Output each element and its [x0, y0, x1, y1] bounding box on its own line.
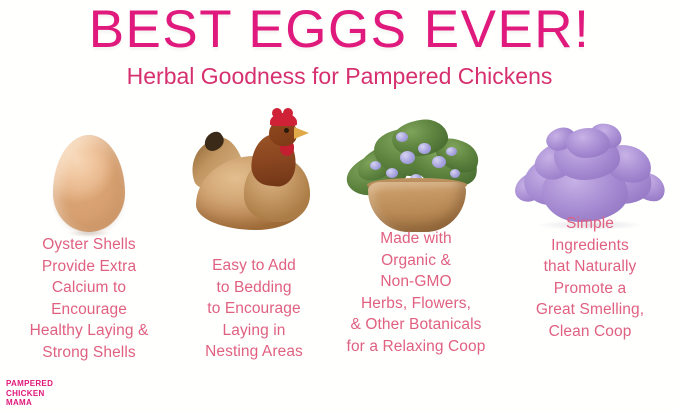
caption-line: Calcium to [5, 277, 173, 299]
caption-line: Simple [506, 213, 674, 235]
egg-shape-icon [53, 135, 125, 232]
blossom [370, 161, 381, 170]
caption-line: Non-GMO [332, 271, 500, 293]
brand-logo[interactable]: PAMPERED CHICKEN MAMA [6, 379, 53, 408]
hen-illustration-icon [190, 106, 318, 234]
feature-column-clean-coop: Simple Ingredients that Naturally Promot… [510, 100, 670, 385]
caption-line: Easy to Add [170, 255, 338, 277]
feature-column-botanicals: Made with Organic & Non-GMO Herbs, Flowe… [336, 100, 496, 385]
herb-bowl-image [336, 100, 496, 234]
hen-image [174, 102, 334, 234]
feature-column-oyster-shells: Oyster Shells Provide Extra Calcium to E… [9, 100, 169, 385]
logo-line-2: CHICKEN [6, 389, 53, 399]
blossom [400, 151, 415, 164]
feature-column-bedding: Easy to Add to Bedding to Encourage Layi… [174, 100, 334, 385]
page-title: BEST EGGS EVER! [0, 2, 679, 58]
caption-line: Provide Extra [5, 256, 173, 278]
blossom [446, 147, 457, 156]
hen-eye [284, 128, 289, 133]
blossom [432, 156, 446, 168]
caption-line: Herbs, Flowers, [332, 293, 500, 315]
feature-caption: Made with Organic & Non-GMO Herbs, Flowe… [332, 228, 500, 357]
logo-line-3: MAMA [6, 398, 53, 408]
caption-line: Oyster Shells [5, 234, 173, 256]
hen-beak [294, 127, 309, 139]
caption-line: Strong Shells [5, 342, 173, 364]
caption-line: Great Smelling, [506, 299, 674, 321]
herb-bowl-illustration-icon [340, 102, 492, 234]
blossom [386, 168, 398, 178]
caption-line: Promote a [506, 278, 674, 300]
caption-line: Healthy Laying & [5, 320, 173, 342]
caption-line: to Encourage [170, 298, 338, 320]
brown-egg-image [9, 104, 169, 232]
caption-line: Nesting Areas [170, 341, 338, 363]
caption-line: & Other Botanicals [332, 314, 500, 336]
caption-line: for a Relaxing Coop [332, 336, 500, 358]
promo-banner: BEST EGGS EVER! Herbal Goodness for Pamp… [0, 0, 679, 411]
caption-line: Encourage [5, 299, 173, 321]
feature-caption: Simple Ingredients that Naturally Promot… [506, 213, 674, 342]
lavender-image [510, 104, 670, 230]
page-subtitle: Herbal Goodness for Pampered Chickens [0, 62, 679, 90]
caption-line: Made with [332, 228, 500, 250]
caption-line: that Naturally [506, 256, 674, 278]
blossom [418, 143, 431, 154]
feature-caption: Easy to Add to Bedding to Encourage Layi… [170, 255, 338, 363]
hen-comb [270, 113, 297, 126]
lavender-illustration-icon [512, 110, 668, 230]
blossom [450, 169, 460, 178]
caption-line: to Bedding [170, 277, 338, 299]
caption-line: Laying in [170, 320, 338, 342]
feature-caption: Oyster Shells Provide Extra Calcium to E… [5, 234, 173, 363]
blossom [396, 132, 408, 142]
wooden-bowl [368, 182, 466, 232]
lavender-cluster [566, 128, 610, 158]
caption-line: Clean Coop [506, 321, 674, 343]
caption-line: Ingredients [506, 235, 674, 257]
logo-line-1: PAMPERED [6, 379, 53, 389]
caption-line: Organic & [332, 250, 500, 272]
